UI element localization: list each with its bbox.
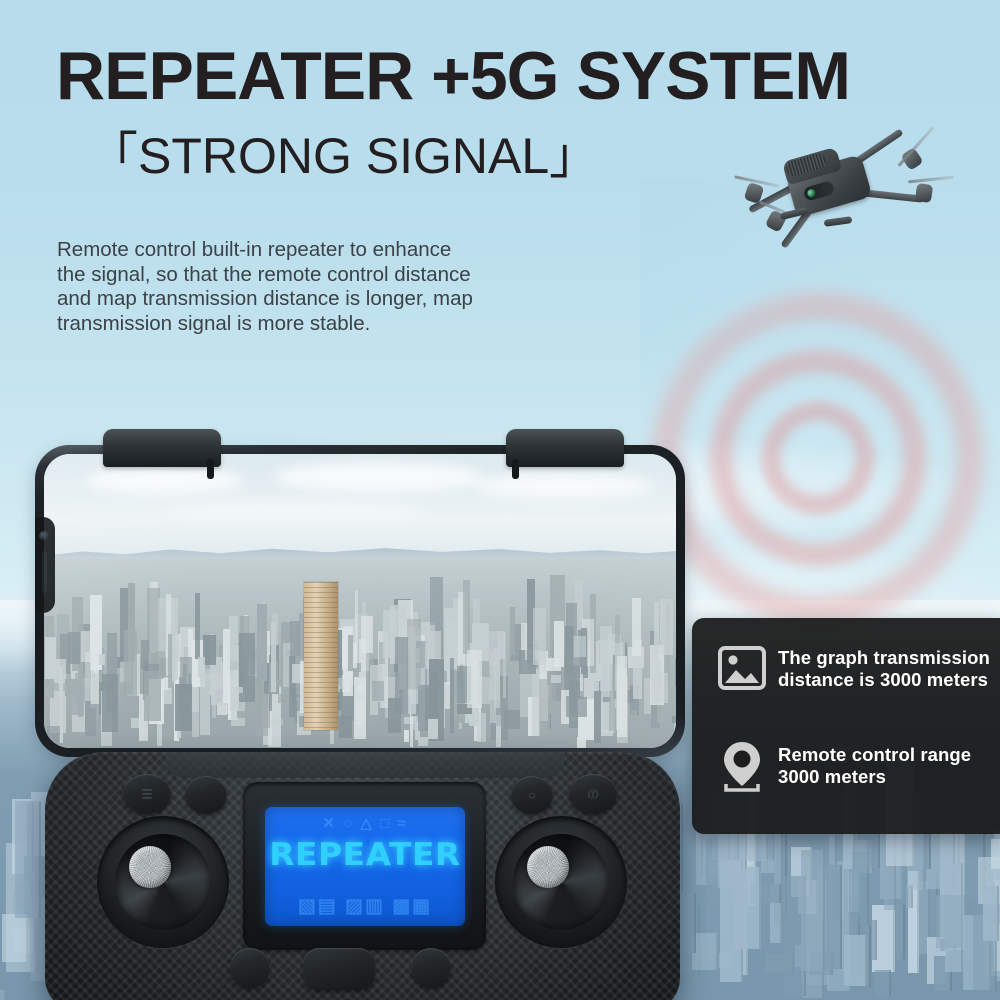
button-bottom-right[interactable] xyxy=(411,948,451,988)
drone-landing-foot xyxy=(824,216,853,227)
info-item-control-range: Remote control range 3000 meters xyxy=(714,738,971,794)
page-title: REPEATER +5G SYSTEM xyxy=(56,40,850,112)
lcd-status-text: REPEATER xyxy=(265,837,465,873)
joystick-left[interactable] xyxy=(97,816,229,948)
info-item-graph-text: The graph transmission distance is 3000 … xyxy=(778,647,990,691)
lcd-ghost-icons-top: ✕ ○ △ □ ≈ xyxy=(265,814,465,832)
front-camera-icon xyxy=(39,531,49,541)
joystick-right-knob[interactable] xyxy=(527,846,569,888)
button-bottom-left[interactable] xyxy=(230,948,270,988)
phone-clamp-right xyxy=(506,429,624,467)
remote-controller: ☰ ○ ⏼ ✕ ○ △ □ ≈ REPEATER ▧▤ ▨▥ ▩▦ xyxy=(45,752,680,1000)
description-paragraph: Remote control built-in repeater to enha… xyxy=(57,238,562,336)
info-range-line-1: Remote control range xyxy=(778,744,971,766)
lcd-screen[interactable]: ✕ ○ △ □ ≈ REPEATER ▧▤ ▨▥ ▩▦ xyxy=(265,807,465,926)
screen-cityscape xyxy=(44,559,676,748)
description-line-4: transmission signal is more stable. xyxy=(57,312,562,337)
drone-motor xyxy=(915,183,933,203)
controller-top-lip xyxy=(165,752,565,778)
page-subtitle: 「STRONG SIGNAL」 xyxy=(88,128,599,184)
drone-illustration xyxy=(712,128,942,243)
info-item-graph-transmission: The graph transmission distance is 3000 … xyxy=(714,644,990,694)
description-line-1: Remote control built-in repeater to enha… xyxy=(57,238,562,263)
button-bottom-center[interactable] xyxy=(303,948,375,990)
lcd-bezel: ✕ ○ △ □ ≈ REPEATER ▧▤ ▨▥ ▩▦ xyxy=(243,782,486,950)
phone-mount-assembly xyxy=(30,430,690,780)
joystick-right[interactable] xyxy=(495,816,627,948)
location-pin-icon xyxy=(714,738,770,794)
description-line-3: and map transmission distance is longer,… xyxy=(57,287,562,312)
info-panel: The graph transmission distance is 3000 … xyxy=(692,618,1000,834)
product-feature-poster: REPEATER +5G SYSTEM 「STRONG SIGNAL」 Remo… xyxy=(0,0,1000,1000)
phone-clamp-left xyxy=(103,429,221,467)
phone-screen xyxy=(44,454,676,748)
power-button[interactable]: ⏼ xyxy=(569,774,617,814)
button-left-2[interactable] xyxy=(185,776,227,814)
phone-notch xyxy=(35,517,55,613)
info-graph-line-1: The graph transmission xyxy=(778,647,990,669)
info-range-line-2: 3000 meters xyxy=(778,766,971,788)
description-line-2: the signal, so that the remote control d… xyxy=(57,263,562,288)
info-graph-line-2: distance is 3000 meters xyxy=(778,669,990,691)
button-left-1[interactable]: ☰ xyxy=(123,774,171,814)
info-item-range-text: Remote control range 3000 meters xyxy=(778,744,971,788)
button-right-1[interactable]: ○ xyxy=(511,776,553,814)
earpiece-speaker xyxy=(42,551,47,593)
smartphone xyxy=(35,445,685,757)
joystick-left-knob[interactable] xyxy=(129,846,171,888)
lcd-ghost-icons-bottom: ▧▤ ▨▥ ▩▦ xyxy=(265,895,465,918)
image-icon xyxy=(714,644,770,694)
screen-landmark-tower xyxy=(304,582,338,730)
